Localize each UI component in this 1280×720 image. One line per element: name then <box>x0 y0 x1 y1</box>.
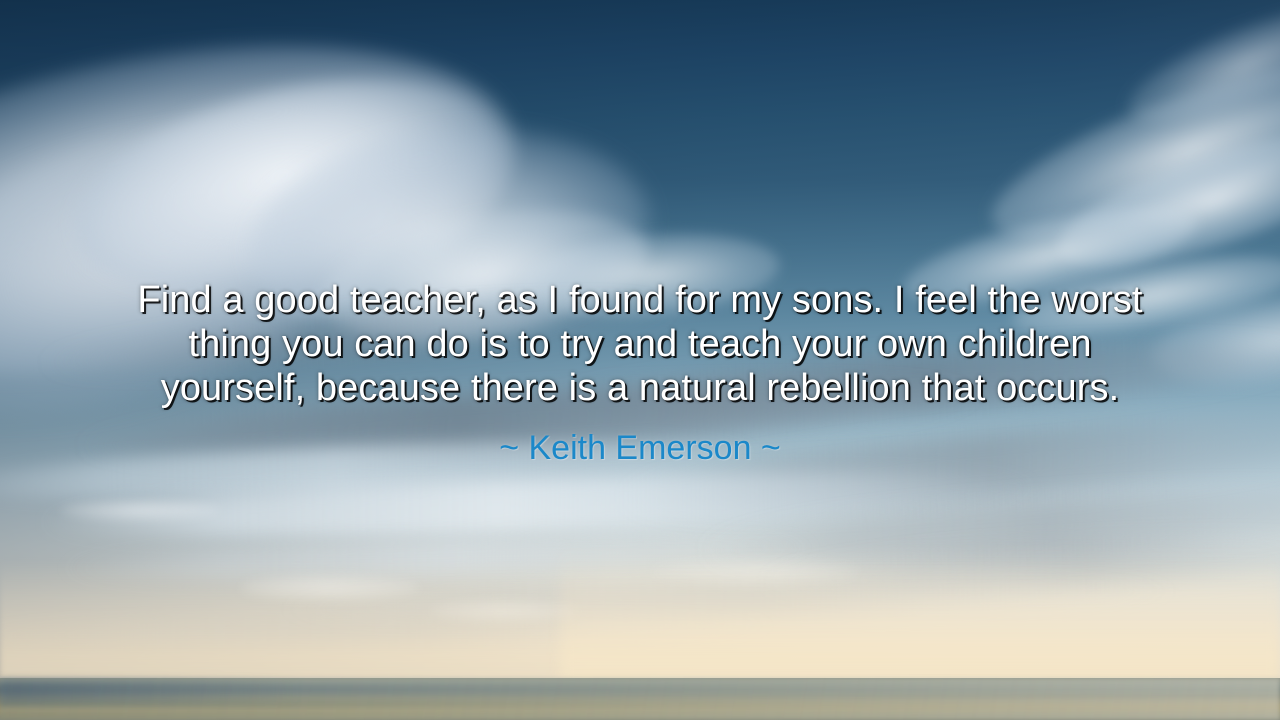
quote-author: ~ Keith Emerson ~ <box>0 410 1280 468</box>
quote-block: Find a good teacher, as I found for my s… <box>0 278 1280 468</box>
horizon-warm-haze-right <box>560 545 1280 695</box>
quote-image-canvas: Find a good teacher, as I found for my s… <box>0 0 1280 720</box>
quote-text: Find a good teacher, as I found for my s… <box>0 278 1280 410</box>
landscape-atmospheric-haze <box>0 678 1280 720</box>
